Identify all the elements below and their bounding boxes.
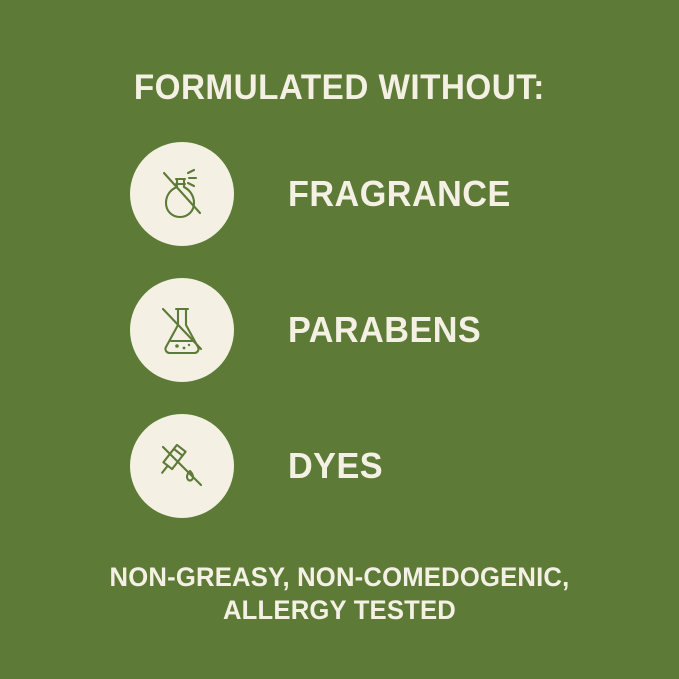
list-item-fragrance: FRAGRANCE	[130, 142, 550, 246]
claims-list: FRAGRANCE PARABENS	[0, 142, 679, 518]
list-item-label: FRAGRANCE	[288, 173, 511, 215]
footer-line-2: ALLERGY TESTED	[17, 594, 662, 627]
fragrance-badge	[130, 142, 234, 246]
footer-claims: NON-GREASY, NON-COMEDOGENIC, ALLERGY TES…	[0, 561, 679, 627]
no-fragrance-spray-icon	[147, 159, 217, 229]
parabens-badge	[130, 278, 234, 382]
dyes-badge	[130, 414, 234, 518]
page-title: FORMULATED WITHOUT:	[134, 68, 545, 108]
formulated-without-card: FORMULATED WITHOUT: FRAGRANCE	[0, 0, 679, 679]
list-item-label: PARABENS	[288, 309, 481, 351]
footer-line-1: NON-GREASY, NON-COMEDOGENIC,	[17, 561, 662, 594]
list-item-parabens: PARABENS	[130, 278, 550, 382]
list-item-dyes: DYES	[130, 414, 550, 518]
no-dyes-dropper-icon	[147, 431, 217, 501]
no-parabens-flask-icon	[147, 295, 217, 365]
list-item-label: DYES	[288, 445, 383, 487]
